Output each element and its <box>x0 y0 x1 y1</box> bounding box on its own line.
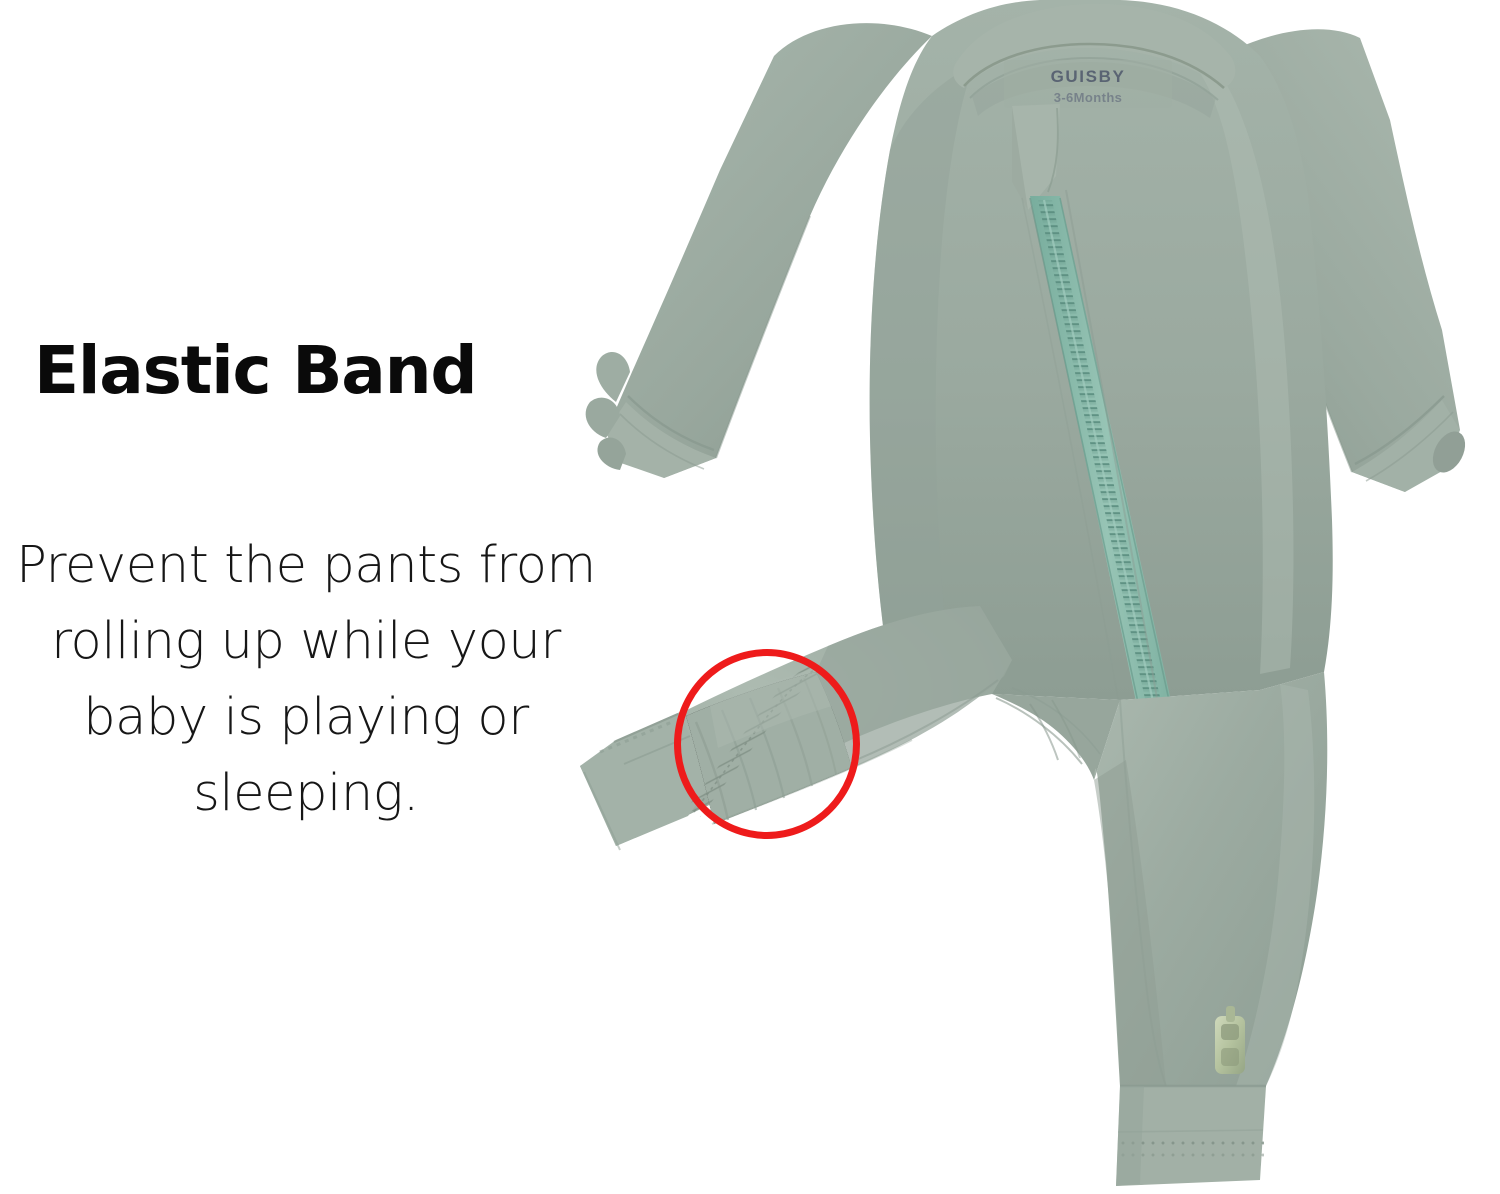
right-leg <box>1094 672 1327 1186</box>
description-line: Prevent the pants from <box>0 528 612 604</box>
romper-illustration: GUISBY 3-6Months <box>560 0 1500 1194</box>
text-column: Elastic Band Prevent the pants from roll… <box>0 0 620 1194</box>
description-text: Prevent the pants from rolling up while … <box>0 528 612 832</box>
marketing-infographic: Elastic Band Prevent the pants from roll… <box>0 0 1500 1194</box>
size-label: 3-6Months <box>1054 90 1123 105</box>
right-foot-cuff <box>1116 1086 1266 1186</box>
brand-name: GUISBY <box>1051 67 1126 86</box>
description-line: sleeping. <box>0 756 612 832</box>
description-line: rolling up while your <box>0 604 612 680</box>
brand-label: GUISBY 3-6Months <box>1004 60 1172 108</box>
page-title: Elastic Band <box>34 336 476 405</box>
left-leg-folded <box>580 606 1012 850</box>
description-line: baby is playing or <box>0 680 612 756</box>
product-photo: GUISBY 3-6Months <box>560 0 1500 1194</box>
